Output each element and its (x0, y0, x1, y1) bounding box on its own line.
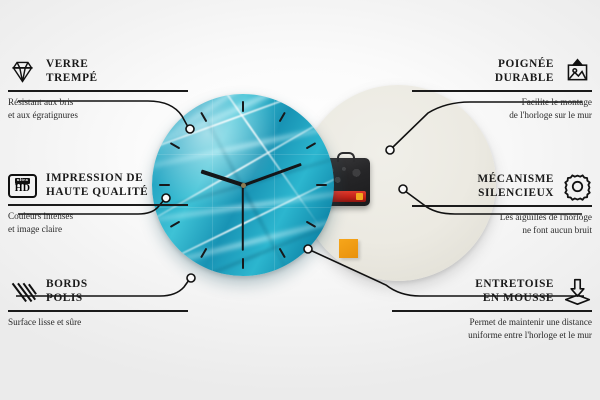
callout-polished-edges[interactable]: BORDS POLIS Surface lisse et sûre (8, 277, 188, 329)
clock-second-hand (242, 185, 244, 251)
callout-foam-spacer[interactable]: ENTRETOISE EN MOUSSE Permet de maintenir… (392, 277, 592, 342)
callout-description: Permet de maintenir une distance uniform… (392, 316, 592, 342)
divider (412, 90, 592, 92)
infographic-stage: VERRE TREMPÉ Résistant aux bris et aux é… (0, 0, 600, 400)
clock-center-pin (241, 183, 246, 188)
callout-header: BORDS POLIS (8, 277, 188, 306)
callout-description: Résistant aux bris et aux égratignures (8, 96, 188, 122)
ultra-hd-icon: ultra HD (8, 174, 37, 198)
callout-title: POIGNÉE DURABLE (495, 58, 554, 86)
callout-header: VERRE TREMPÉ (8, 57, 188, 86)
divider (392, 310, 592, 312)
callout-header: ENTRETOISE EN MOUSSE (392, 277, 592, 306)
hanger-hook-icon (337, 152, 355, 162)
callout-description: Facilite le montage de l'horloge sur le … (412, 96, 592, 122)
callout-title: IMPRESSION DE HAUTE QUALITÉ (46, 172, 148, 200)
callout-title: MÉCANISME SILENCIEUX (478, 173, 555, 201)
callout-header: MÉCANISME SILENCIEUX (412, 172, 592, 201)
callout-durable-hanger[interactable]: POIGNÉE DURABLE Facilite le montage de l… (412, 57, 592, 122)
callout-title: ENTRETOISE EN MOUSSE (475, 278, 554, 306)
divider (412, 205, 592, 207)
callout-description: Couleurs intenses et image claire (8, 210, 188, 236)
divider (8, 204, 188, 206)
divider (8, 310, 188, 312)
foam-spacer-icon (563, 277, 592, 306)
polished-edges-icon (8, 277, 37, 306)
callout-silent-mechanism[interactable]: MÉCANISME SILENCIEUX Les aiguilles de l'… (412, 172, 592, 237)
callout-description: Les aiguilles de l'horloge ne font aucun… (412, 211, 592, 237)
callout-header: ultra HD IMPRESSION DE HAUTE QUALITÉ (8, 172, 188, 200)
callout-tempered-glass[interactable]: VERRE TREMPÉ Résistant aux bris et aux é… (8, 57, 188, 122)
callout-title: VERRE TREMPÉ (46, 58, 98, 86)
divider (8, 90, 188, 92)
callout-title: BORDS POLIS (46, 278, 88, 306)
foam-spacer (339, 239, 358, 258)
callout-header: POIGNÉE DURABLE (412, 57, 592, 86)
callout-description: Surface lisse et sûre (8, 316, 188, 329)
callout-print-quality[interactable]: ultra HD IMPRESSION DE HAUTE QUALITÉ Cou… (8, 172, 188, 236)
diamond-icon (8, 57, 37, 86)
gear-icon (563, 172, 592, 201)
picture-hanger-icon (563, 57, 592, 86)
